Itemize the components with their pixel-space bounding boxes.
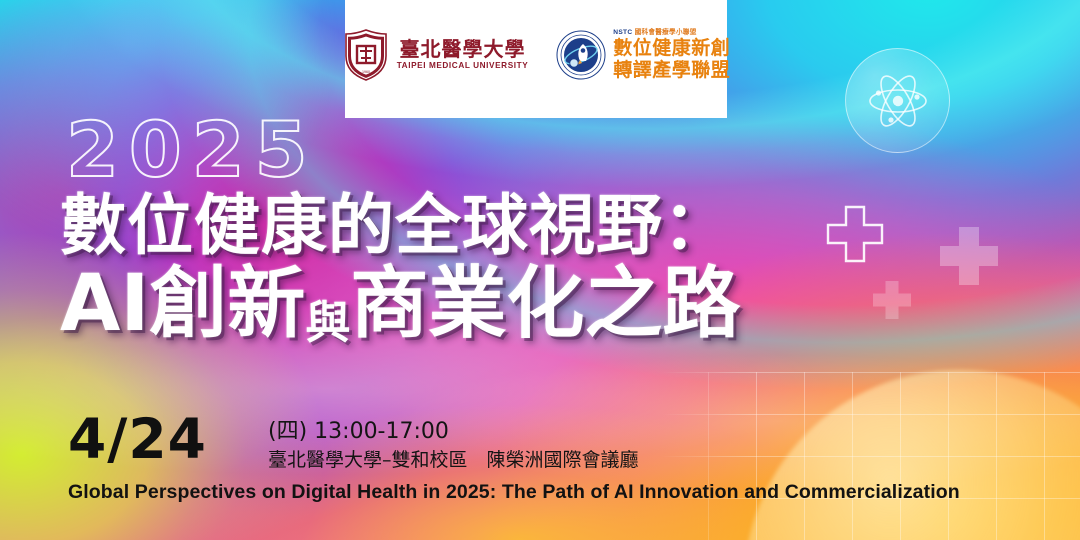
event-time: (四) 13:00-17:00 — [268, 420, 639, 444]
rocket-emblem-icon — [556, 30, 606, 80]
subtitle-english: Global Perspectives on Digital Health in… — [68, 481, 960, 504]
grid-pattern — [660, 372, 1080, 540]
nstc-alliance-logo: NSTC 國科會醫療學小聯盟 數位健康新創 轉譯產學聯盟 — [556, 30, 730, 81]
nstc-wordmark: NSTC 國科會醫療學小聯盟 數位健康新創 轉譯產學聯盟 — [613, 30, 730, 81]
tmu-name-cn: 臺北醫學大學 — [399, 39, 525, 59]
nstc-agency: NSTC — [613, 29, 632, 36]
title-block: 數位健康的全球視野： AI創新與商業化之路 — [60, 193, 880, 345]
event-venue: 臺北醫學大學–雙和校區 陳榮洲國際會議廳 — [268, 450, 639, 471]
atom-badge — [845, 48, 950, 153]
event-info: (四) 13:00-17:00 臺北醫學大學–雙和校區 陳榮洲國際會議廳 — [268, 420, 639, 470]
tmu-shield-icon: 1960 — [342, 28, 390, 82]
nstc-agency-cn: 國科會醫療學小聯盟 — [635, 29, 697, 36]
nstc-agency-line: NSTC 國科會醫療學小聯盟 — [613, 30, 730, 37]
plus-solid-icon — [938, 225, 1000, 287]
title-line-1: 數位健康的全球視野： — [60, 193, 880, 259]
event-poster: 1960 臺北醫學大學 TAIPEI MEDICAL UNIVERSITY — [0, 0, 1080, 540]
tmu-logo: 1960 臺北醫學大學 TAIPEI MEDICAL UNIVERSITY — [342, 28, 529, 82]
title-line-2-part-b: 商業化之路 — [350, 259, 740, 349]
tmu-wordmark: 臺北醫學大學 TAIPEI MEDICAL UNIVERSITY — [397, 39, 529, 70]
nstc-line-1: 數位健康新創 — [613, 39, 730, 58]
tmu-shield-year: 1960 — [362, 70, 370, 74]
title-line-2-part-a: AI創新 — [60, 259, 305, 349]
atom-icon — [862, 65, 934, 137]
logo-bar: 1960 臺北醫學大學 TAIPEI MEDICAL UNIVERSITY — [345, 0, 727, 118]
tmu-name-en: TAIPEI MEDICAL UNIVERSITY — [397, 62, 529, 70]
event-date: 4/24 — [68, 412, 207, 467]
year-text: 2025 — [66, 112, 318, 188]
title-line-2-conjunction: 與 — [305, 300, 350, 345]
title-line-2: AI創新與商業化之路 — [60, 265, 880, 345]
nstc-line-2: 轉譯產學聯盟 — [613, 61, 730, 80]
